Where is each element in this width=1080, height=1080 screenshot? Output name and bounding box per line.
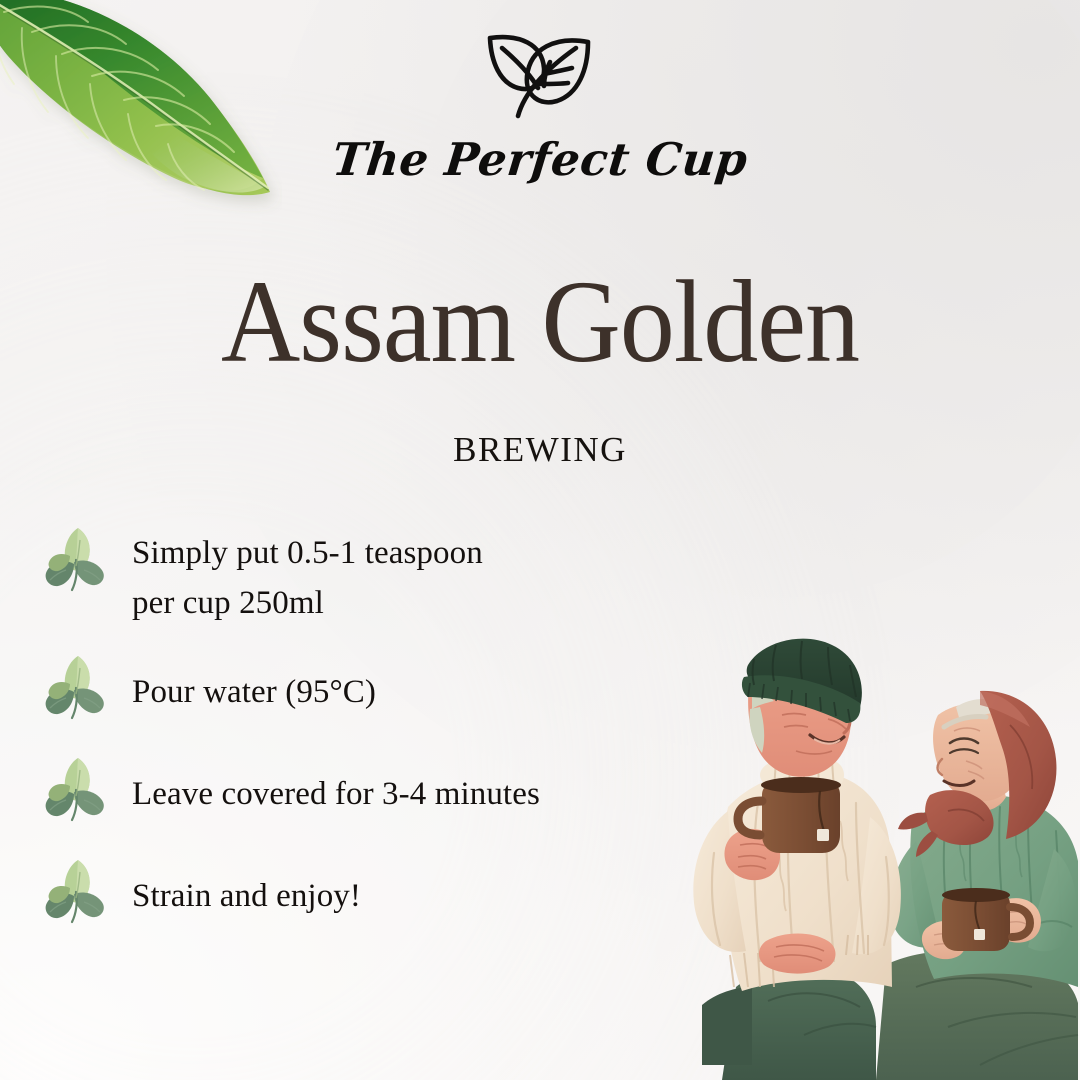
list-item-label: Pour water (95°C) (132, 661, 376, 717)
tea-sprig-icon (44, 526, 106, 596)
list-item-label: Leave covered for 3-4 minutes (132, 763, 540, 819)
man-figure (693, 639, 901, 1080)
brand-logo: The Perfect Cup (0, 26, 1080, 186)
section-subtitle: BREWING (0, 430, 1080, 470)
two-leaves-icon (480, 26, 600, 131)
tea-sprig-icon (44, 654, 106, 724)
poster-canvas: The Perfect Cup Assam Golden BREWING Si (0, 0, 1080, 1080)
list-item-label: Strain and enjoy! (132, 865, 361, 921)
list-item: Simply put 0.5-1 teaspoon per cup 250ml (44, 522, 684, 628)
woman-figure (876, 691, 1078, 1080)
brewing-steps-list: Simply put 0.5-1 teaspoon per cup 250ml … (44, 522, 684, 960)
tea-sprig-icon (44, 756, 106, 826)
list-item: Leave covered for 3-4 minutes (44, 756, 684, 826)
list-item: Pour water (95°C) (44, 654, 684, 724)
brand-name: The Perfect Cup (0, 133, 1080, 186)
elderly-couple-with-mugs-illustration (680, 635, 1080, 1080)
list-item-label: Simply put 0.5-1 teaspoon per cup 250ml (132, 522, 483, 628)
tea-sprig-icon (44, 858, 106, 928)
page-title: Assam Golden (38, 262, 1042, 382)
list-item: Strain and enjoy! (44, 858, 684, 928)
